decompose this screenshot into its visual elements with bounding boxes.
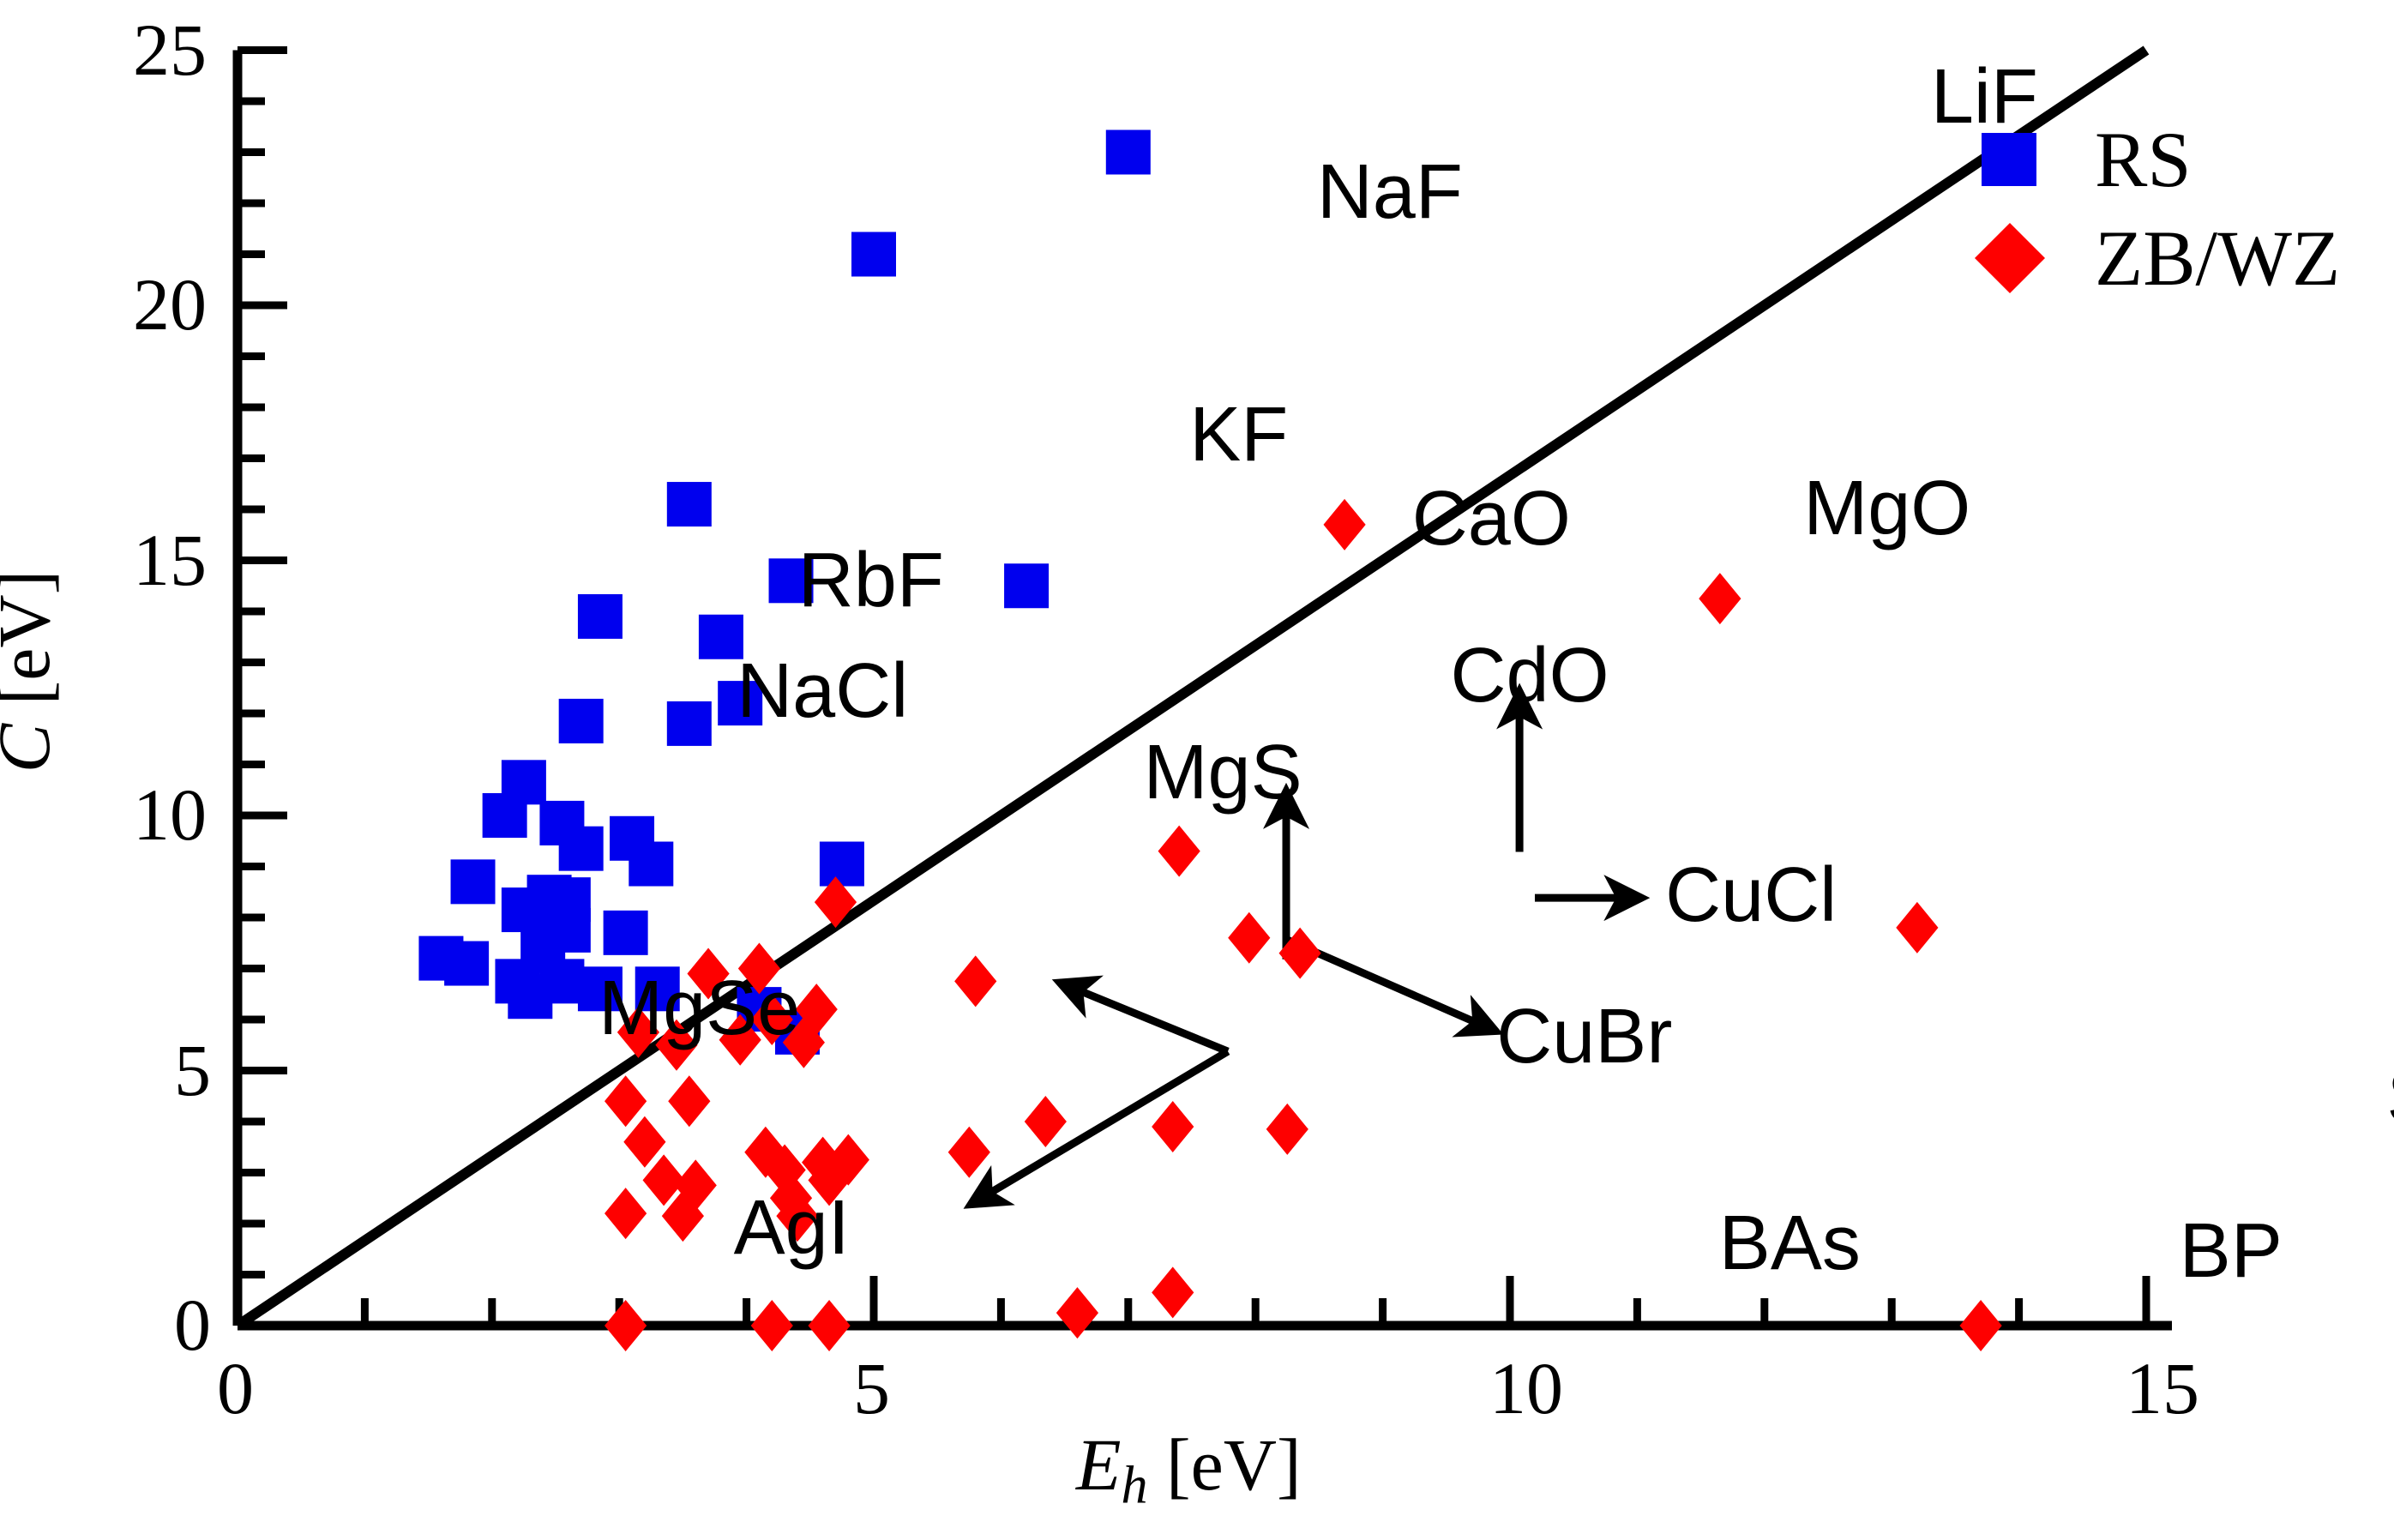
- legend-swatch-rs: [1982, 133, 2036, 186]
- species-label-cao: CaO: [1412, 480, 1571, 557]
- reference-line: [238, 51, 2146, 1326]
- data-marker-rs: [667, 701, 712, 746]
- data-marker-rs: [667, 482, 712, 526]
- species-label-cucl: CuCl: [1665, 857, 1837, 934]
- species-label-bp: BP: [2180, 1212, 2283, 1290]
- species-label-mgse: MgSe: [598, 970, 800, 1047]
- data-marker-zbwz: [668, 1075, 710, 1127]
- data-marker-zbwz: [1152, 1101, 1194, 1152]
- data-marker-zbwz: [1228, 912, 1270, 964]
- y-tick-label: 15: [133, 523, 207, 597]
- y-tick-label: 5: [174, 1033, 211, 1107]
- data-marker-zbwz: [605, 1075, 647, 1127]
- data-marker-zbwz: [1158, 826, 1200, 877]
- data-marker-rs: [1106, 130, 1151, 175]
- data-marker-zbwz: [948, 1127, 990, 1178]
- species-label-cubr: CuBr: [1496, 998, 1672, 1075]
- y-tick-label: 0: [174, 1288, 211, 1362]
- x-tick-label: 15: [2126, 1351, 2199, 1425]
- x-tick-label: 0: [217, 1351, 254, 1425]
- legend-label-rs: RS: [2095, 120, 2192, 199]
- data-marker-zbwz: [1056, 1287, 1098, 1338]
- species-label-mgs: MgS: [1144, 734, 1302, 811]
- species-label-naf: NaF: [1317, 153, 1463, 231]
- species-label-sic: SiC: [2386, 1059, 2394, 1136]
- data-marker-rs: [559, 699, 604, 743]
- data-marker-zbwz: [808, 1300, 850, 1351]
- data-marker-zbwz: [1699, 573, 1741, 624]
- data-marker-rs: [508, 974, 552, 1019]
- x-tick-label: 10: [1489, 1351, 1563, 1425]
- data-marker-rs: [444, 941, 489, 986]
- guide-line-layer: [238, 51, 2146, 1326]
- data-marker-rs: [604, 911, 648, 955]
- species-label-kf: KF: [1189, 396, 1288, 473]
- species-label-nacl: NaCl: [737, 653, 908, 730]
- species-label-rbf: RbF: [798, 542, 944, 619]
- data-marker-rs: [1004, 563, 1049, 608]
- data-marker-rs: [578, 594, 623, 639]
- data-marker-zbwz: [1896, 902, 1938, 953]
- x-axis-title: Eh [eV]: [1076, 1428, 1302, 1513]
- species-label-agi: AgI: [734, 1189, 850, 1266]
- data-marker-zbwz: [605, 1188, 647, 1239]
- x-tick-label: 5: [853, 1351, 890, 1425]
- species-label-lif: LiF: [1931, 58, 2038, 135]
- species-label-bas: BAs: [1719, 1205, 1861, 1282]
- figure-root: RS ZB/WZ Eh [eV] C [eV] 0510150510152025…: [0, 0, 2394, 1540]
- data-marker-rs: [451, 859, 496, 904]
- data-marker-zbwz: [1323, 499, 1365, 550]
- data-marker-rs: [629, 842, 673, 887]
- y-axis-title: C [eV]: [0, 570, 61, 773]
- y-tick-label: 10: [133, 778, 207, 851]
- y-tick-label: 25: [133, 13, 207, 87]
- legend-label-zbwz: ZB/WZ: [2095, 219, 2340, 298]
- data-marker-zbwz: [751, 1300, 793, 1351]
- data-marker-zbwz: [1025, 1096, 1067, 1147]
- data-marker-zbwz: [605, 1300, 647, 1351]
- mgse-arrow: [1059, 983, 1228, 1052]
- data-marker-rs: [851, 232, 896, 277]
- species-label-mgo: MgO: [1803, 470, 1970, 547]
- data-marker-zbwz: [1959, 1300, 2001, 1351]
- data-marker-zbwz: [954, 955, 996, 1007]
- data-marker-zbwz: [1266, 1104, 1308, 1155]
- data-marker-zbwz: [1152, 1266, 1194, 1318]
- y-tick-label: 20: [133, 268, 207, 341]
- species-label-cdo: CdO: [1451, 637, 1609, 714]
- data-marker-rs: [820, 842, 864, 887]
- data-marker-rs: [559, 827, 604, 871]
- data-marker-rs: [483, 793, 527, 838]
